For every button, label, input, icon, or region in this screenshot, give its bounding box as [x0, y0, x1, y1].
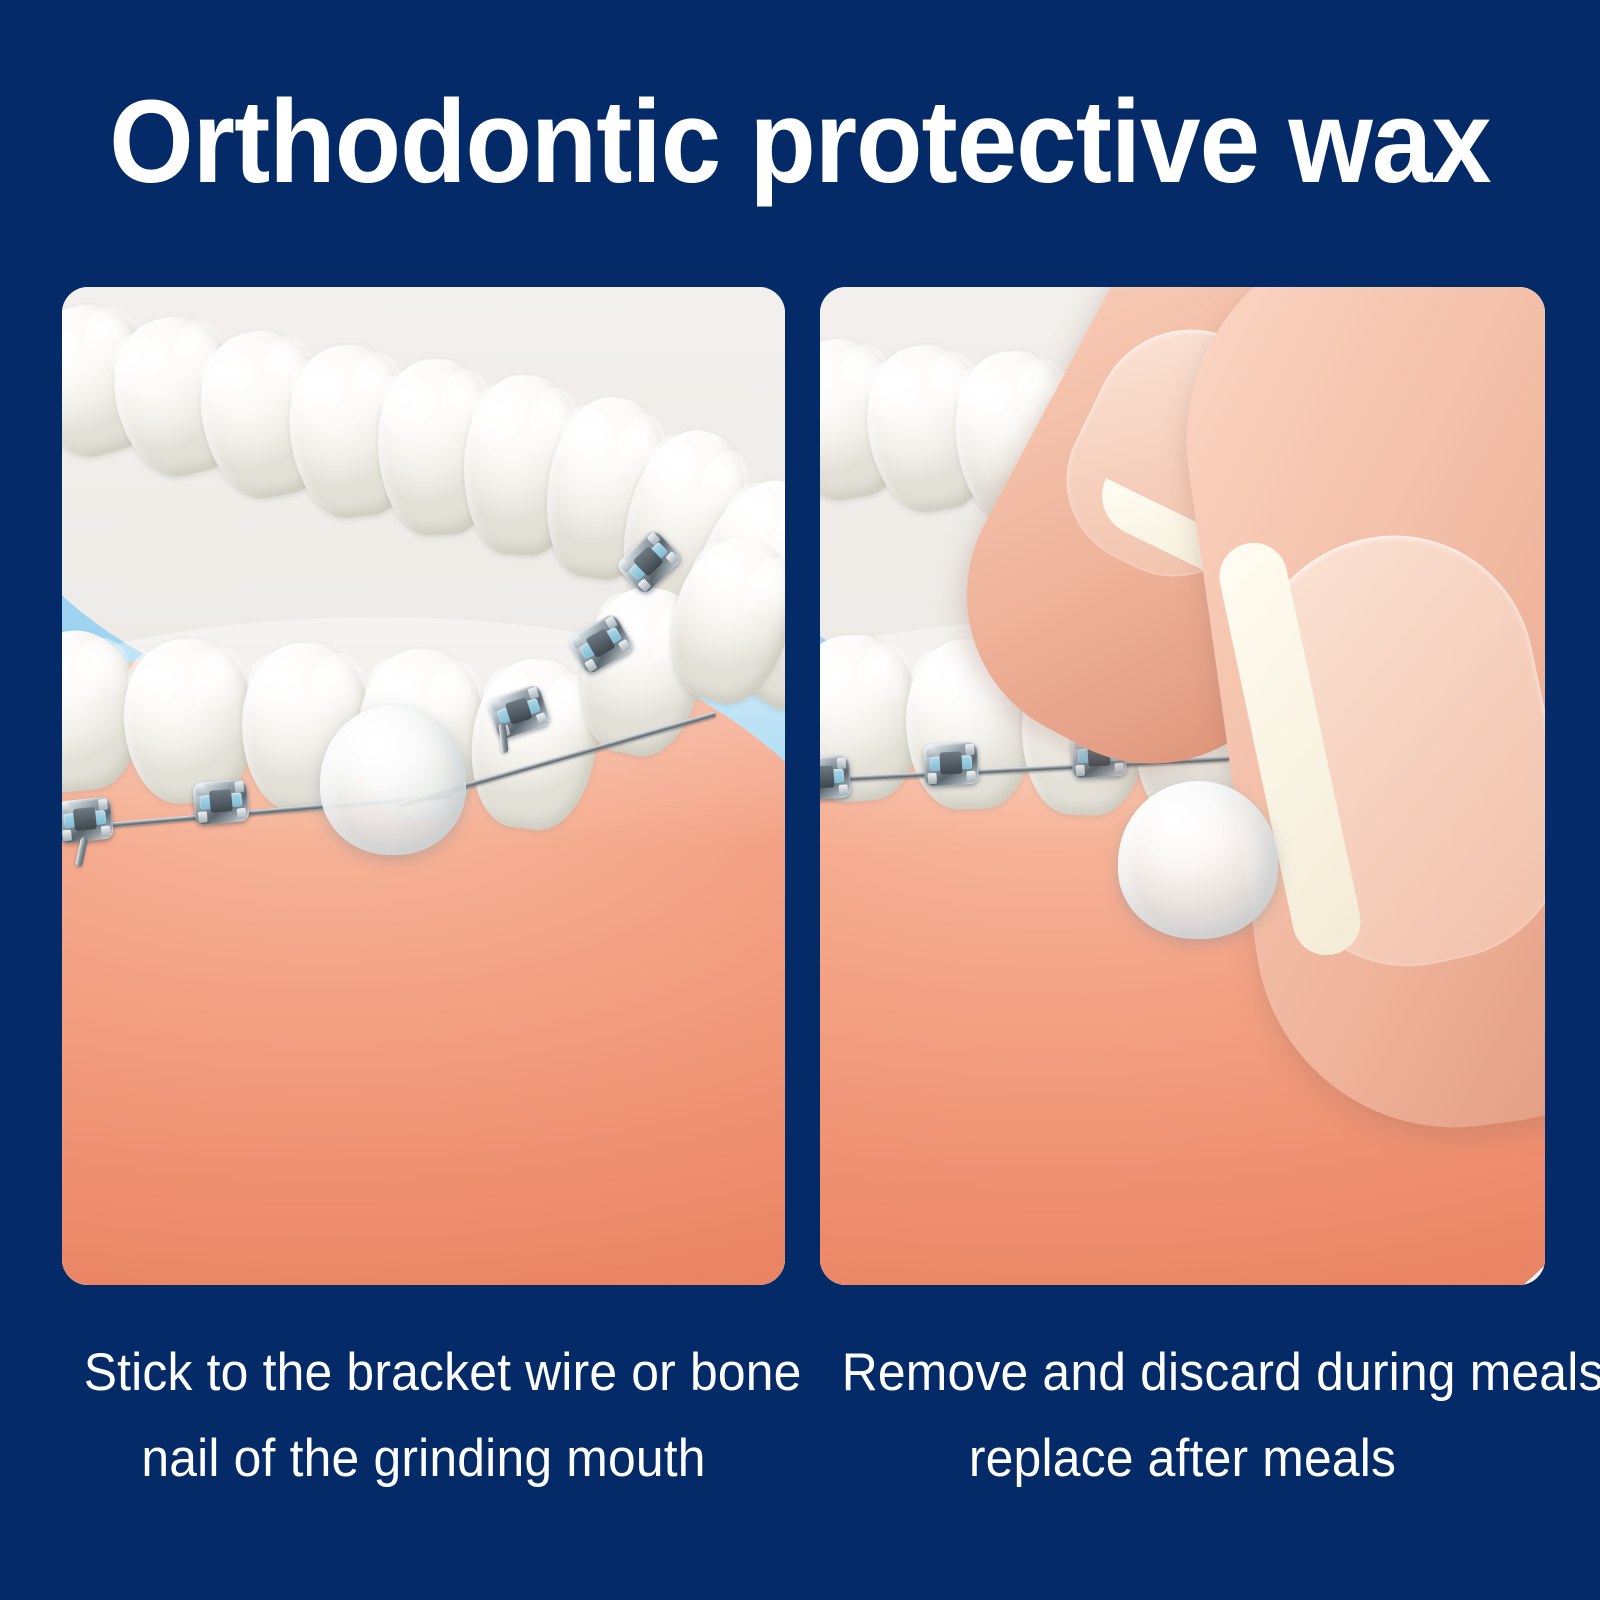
caption-apply: Stick to the bracket wire or bone nail o…: [84, 1330, 764, 1502]
apply-wax-photo: [62, 287, 785, 1285]
caption-remove: Remove and discard during meals, replace…: [842, 1330, 1524, 1502]
infographic-root: Orthodontic protective wax: [0, 0, 1600, 1600]
bracket-icon: [62, 796, 114, 843]
dental-model: [62, 287, 785, 1285]
photo-panel-remove: [820, 287, 1545, 1285]
wax-ball-icon: [320, 705, 466, 855]
caption-line: Stick to the bracket wire or bone: [84, 1330, 764, 1416]
photo-panel-apply: [62, 287, 785, 1285]
caption-line: replace after meals: [842, 1416, 1524, 1502]
bracket-icon: [923, 742, 979, 787]
page-title: Orthodontic protective wax: [64, 86, 1536, 198]
bracket-icon: [192, 779, 249, 826]
wax-ball-icon: [1118, 781, 1278, 939]
remove-wax-photo: [820, 287, 1545, 1285]
caption-line: Remove and discard during meals,: [842, 1330, 1524, 1416]
bracket-icon: [820, 755, 851, 801]
caption-line: nail of the grinding mouth: [84, 1416, 764, 1502]
